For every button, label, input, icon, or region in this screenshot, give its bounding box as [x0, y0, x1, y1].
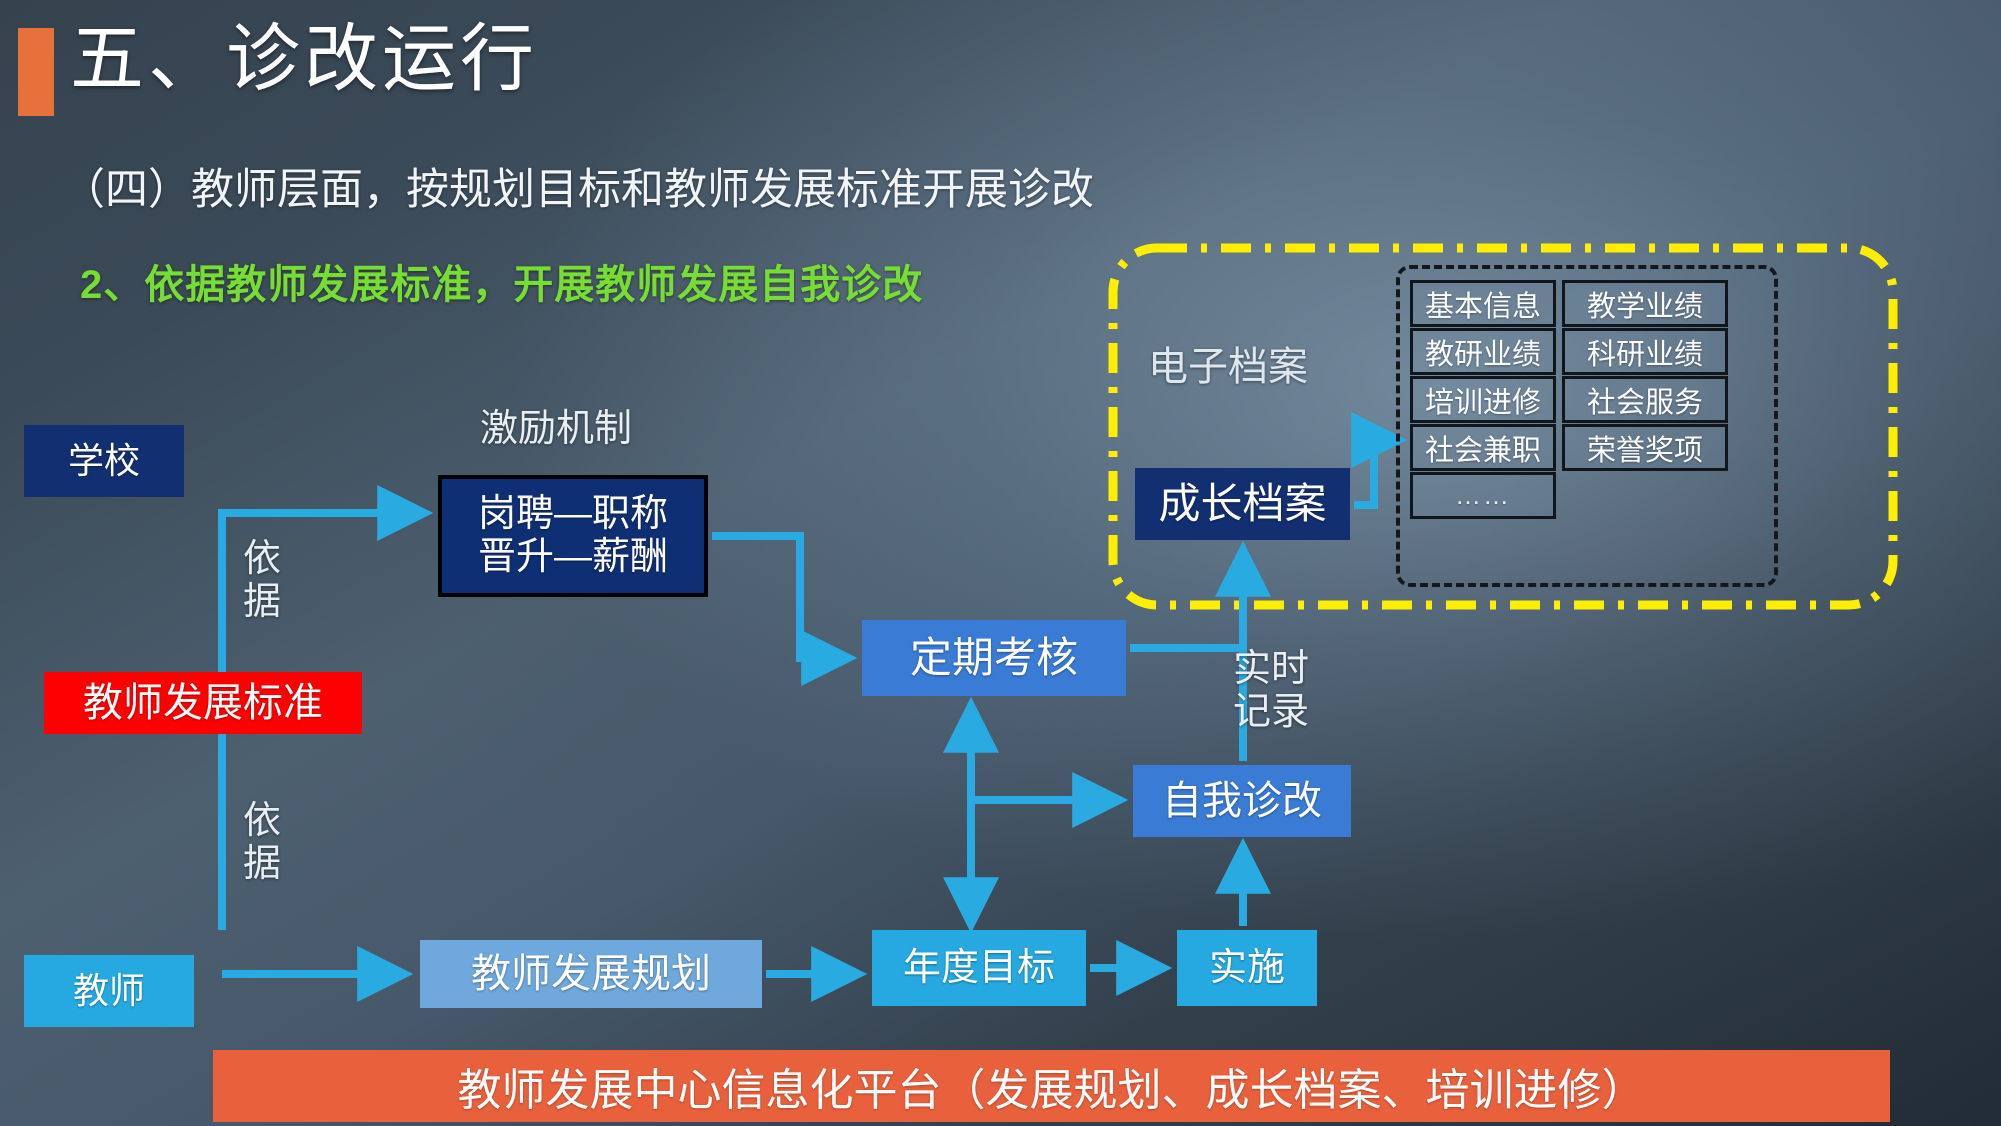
node-development-plan[interactable]: 教师发展规划 [420, 940, 762, 1008]
page-title: 五、诊改运行 [70, 22, 538, 96]
node-teacher-standard[interactable]: 教师发展标准 [44, 672, 362, 734]
archive-cell[interactable]: 科研业绩 [1562, 328, 1728, 375]
node-self-diagnosis[interactable]: 自我诊改 [1133, 765, 1351, 837]
platform-banner: 教师发展中心信息化平台（发展规划、成长档案、培训进修） [213, 1050, 1890, 1122]
label-realtime-record: 实时 记录 [1233, 648, 1309, 733]
node-growth-archive[interactable]: 成长档案 [1135, 468, 1350, 540]
slide-canvas: 五、诊改运行 （四）教师层面，按规划目标和教师发展标准开展诊改 2、依据教师发展… [0, 0, 2001, 1126]
archive-cell[interactable]: 教研业绩 [1410, 328, 1556, 375]
archive-cell[interactable]: 社会兼职 [1410, 424, 1556, 471]
label-incentive-mechanism: 激励机制 [480, 408, 632, 451]
node-annual-goal[interactable]: 年度目标 [872, 930, 1086, 1006]
node-teacher[interactable]: 教师 [24, 955, 194, 1027]
archive-cell[interactable]: 社会服务 [1562, 376, 1728, 423]
label-electronic-archive: 电子档案 [1148, 345, 1308, 390]
section-heading-green: 2、依据教师发展标准，开展教师发展自我诊改 [80, 252, 923, 310]
archive-cell[interactable]: 培训进修 [1410, 376, 1556, 423]
page-subtitle: （四）教师层面，按规划目标和教师发展标准开展诊改 [62, 155, 1094, 217]
node-implement[interactable]: 实施 [1177, 930, 1317, 1006]
archive-cell[interactable]: 荣誉奖项 [1562, 424, 1728, 471]
archive-table: 基本信息教学业绩教研业绩科研业绩培训进修社会服务社会兼职荣誉奖项…… [1410, 280, 1728, 519]
node-school[interactable]: 学校 [24, 425, 184, 497]
archive-cell[interactable]: 教学业绩 [1562, 280, 1728, 327]
label-basis-lower: 依 据 [243, 800, 281, 885]
archive-cell[interactable]: …… [1410, 472, 1556, 519]
title-accent-bar [18, 28, 54, 116]
node-promotion[interactable]: 岗聘—职称 晋升—薪酬 [438, 475, 708, 597]
label-basis-upper: 依 据 [243, 538, 281, 623]
archive-cell[interactable]: 基本信息 [1410, 280, 1556, 327]
node-periodic-assessment[interactable]: 定期考核 [862, 620, 1126, 696]
